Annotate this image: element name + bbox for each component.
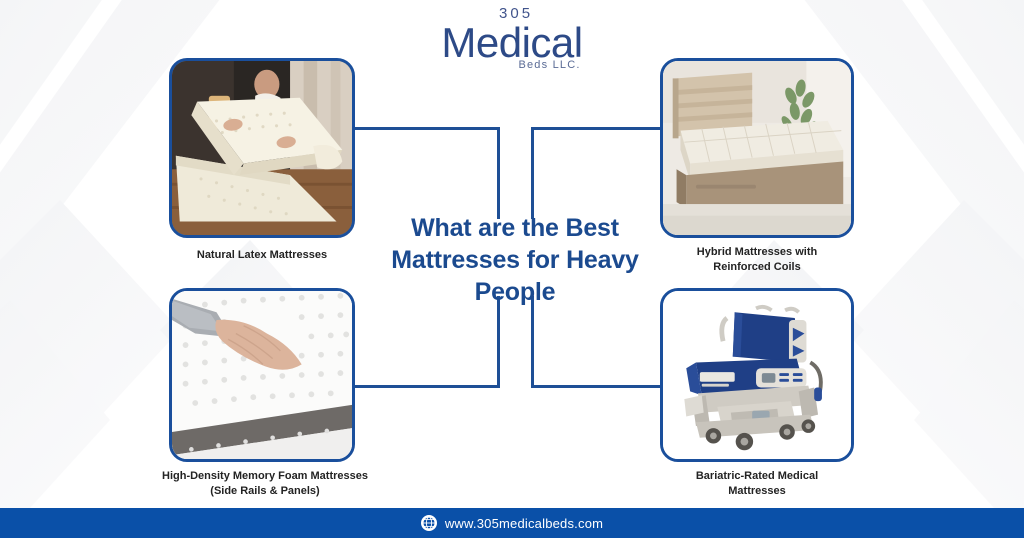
caption-line-2: Mattresses [728, 485, 785, 497]
footer-website-url[interactable]: www.305medicalbeds.com [445, 516, 603, 531]
logo-number: 305 [499, 6, 533, 21]
caption-bariatric-rated-medical: Bariatric-Rated Medical Mattresses [627, 469, 887, 499]
footer-bar: www.305medicalbeds.com [0, 508, 1024, 538]
caption-high-density-memory-foam: High-Density Memory Foam Mattresses (Sid… [135, 469, 395, 499]
caption-hybrid-reinforced-coils: Hybrid Mattresses with Reinforced Coils [627, 245, 887, 275]
caption-line-2: (Side Rails & Panels) [210, 485, 319, 497]
card-natural-latex[interactable] [169, 58, 355, 238]
connector-top-right-vertical [531, 127, 534, 219]
card-bariatric-rated-medical[interactable] [660, 288, 854, 462]
card-high-density-memory-foam[interactable] [169, 288, 355, 462]
connector-top-left-horizontal [353, 127, 500, 130]
caption-line-1: Bariatric-Rated Medical [696, 470, 818, 482]
connector-bottom-left-vertical [497, 296, 500, 388]
caption-line-1: Hybrid Mattresses with [697, 246, 817, 258]
connector-bottom-left-horizontal [353, 385, 500, 388]
card-hybrid-reinforced-coils[interactable] [660, 58, 854, 238]
caption-line-1: High-Density Memory Foam Mattresses [162, 470, 368, 482]
memory-foam-image [172, 291, 352, 459]
caption-line-2: Reinforced Coils [713, 261, 800, 273]
connector-bottom-right-vertical [531, 296, 534, 388]
connector-bottom-right-horizontal [531, 385, 662, 388]
connector-top-right-horizontal [531, 127, 662, 130]
bariatric-bed-image [663, 291, 851, 459]
connector-top-left-vertical [497, 127, 500, 219]
page-title: What are the Best Mattresses for Heavy P… [370, 212, 660, 308]
globe-icon [421, 515, 437, 531]
hybrid-mattress-image [663, 61, 851, 235]
caption-line: Natural Latex Mattresses [197, 249, 327, 261]
brand-logo: 305 Medical Beds LLC. [0, 8, 1024, 72]
natural-latex-image [172, 61, 352, 235]
caption-natural-latex: Natural Latex Mattresses [132, 248, 392, 263]
infographic-canvas: 305 Medical Beds LLC. What are the Best … [0, 0, 1024, 538]
